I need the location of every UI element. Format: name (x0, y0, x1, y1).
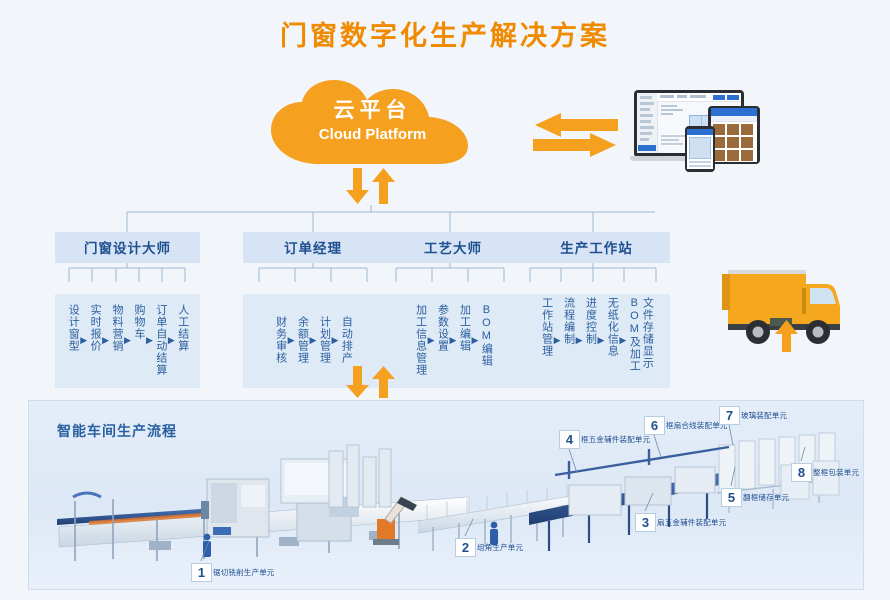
module-card-production-workstation[interactable]: 生产工作站 文件存储显示BOM及加工 ▶ 无纸化信息 ▶ 进度控制 ▶ 流程编制… (523, 232, 670, 357)
flow-arrow-icon: ▶ (102, 335, 109, 346)
module-item[interactable]: 购物车 (132, 304, 145, 376)
module-item[interactable]: 参数设置 (436, 304, 449, 376)
phone-device (685, 126, 715, 172)
unit-badge-6[interactable]: 6 (644, 416, 665, 435)
unit-badge-1[interactable]: 1 (191, 563, 212, 582)
unit-label-1: 锯切铣削生产单元 (213, 567, 275, 578)
unit-badge-3[interactable]: 3 (635, 513, 656, 532)
flow-arrow-icon: ▶ (428, 335, 435, 346)
unit-badge-5[interactable]: 5 (721, 488, 742, 507)
module-item[interactable]: 文件存储显示BOM及加工 (627, 297, 653, 383)
unit-label-3: 扇五金辅件装配单元 (657, 517, 726, 528)
flow-arrow-icon: ▶ (450, 335, 457, 346)
flow-arrow-icon: ▶ (168, 335, 175, 346)
flow-arrow-icon: ▶ (554, 335, 561, 346)
unit-label-8: 整框包装单元 (813, 467, 859, 478)
module-item[interactable]: 工作站管理 (540, 297, 553, 383)
flow-arrow-icon: ▶ (146, 335, 153, 346)
module-item[interactable]: 人工结算 (176, 304, 189, 376)
flow-arrow-icon: ▶ (288, 335, 295, 346)
module-item[interactable]: 设计窗型 (66, 304, 79, 376)
modules-workshop-arrows-icon (345, 366, 397, 398)
flow-arrow-icon: ▶ (80, 335, 87, 346)
module-item[interactable]: 进度控制 (584, 297, 597, 383)
module-item[interactable]: 物料营销 (110, 304, 123, 376)
cloud-icon (265, 78, 480, 170)
unit-label-7: 玻璃装配单元 (741, 410, 787, 421)
flow-arrow-icon: ▶ (576, 335, 583, 346)
module-item[interactable]: 余额管理 (296, 316, 309, 364)
cloud-platform-node: 云平台 Cloud Platform (265, 78, 480, 170)
module-item[interactable]: 实时报价 (88, 304, 101, 376)
flow-arrow-icon: ▶ (619, 335, 626, 346)
unit-badge-4[interactable]: 4 (559, 430, 580, 449)
laptop-toolbar (657, 93, 741, 102)
page-title: 门窗数字化生产解决方案 (0, 14, 890, 53)
module-card-design-master[interactable]: 门窗设计大师 人工结算 ▶ 订单自动结算 ▶ 购物车 ▶ 物料营销 ▶ 实时报价… (55, 232, 200, 357)
laptop-sidebar (637, 93, 658, 153)
module-items: 人工结算 ▶ 订单自动结算 ▶ 购物车 ▶ 物料营销 ▶ 实时报价 ▶ 设计窗型 (55, 294, 200, 388)
module-title: 工艺大师 (383, 232, 523, 263)
device-cluster (630, 90, 780, 170)
flow-arrow-icon: ▶ (598, 335, 605, 346)
flow-arrow-icon: ▶ (471, 335, 478, 346)
module-title: 订单经理 (243, 232, 383, 263)
devices-cloud-arrows-icon (533, 113, 618, 157)
module-item[interactable]: 计划管理 (317, 316, 330, 364)
module-items: 文件存储显示BOM及加工 ▶ 无纸化信息 ▶ 进度控制 ▶ 流程编制 ▶ 工作站… (523, 294, 670, 388)
unit-label-4: 框五金辅件装配单元 (581, 434, 650, 445)
delivery-truck-icon (714, 262, 874, 352)
module-title: 门窗设计大师 (55, 232, 200, 263)
unit-badge-8[interactable]: 8 (791, 463, 812, 482)
tablet-product-grid (711, 122, 757, 162)
module-card-order-manager[interactable]: 订单经理 自动排产 ▶ 计划管理 ▶ 余额管理 ▶ 财务审核 (243, 232, 383, 357)
module-item[interactable]: 订单自动结算 (154, 304, 167, 376)
flow-arrow-icon: ▶ (331, 335, 338, 346)
flow-arrow-icon: ▶ (310, 335, 317, 346)
cloud-modules-arrows-icon (345, 168, 397, 204)
flow-arrow-icon: ▶ (124, 335, 131, 346)
module-title: 生产工作站 (523, 232, 670, 263)
module-items: BOM编辑 ▶ 加工编辑 ▶ 参数设置 ▶ 加工信息管理 (383, 294, 523, 388)
unit-badge-7[interactable]: 7 (719, 406, 740, 425)
tablet-device (708, 106, 760, 164)
module-item[interactable]: 自动排产 (339, 316, 352, 364)
module-item[interactable]: 流程编制 (562, 297, 575, 383)
module-item[interactable]: 加工编辑 (457, 304, 470, 376)
solution-diagram: 门窗数字化生产解决方案 云平台 Cloud Platform (0, 0, 890, 600)
smart-workshop-panel: 智能车间生产流程 (28, 400, 864, 590)
module-item[interactable]: 无纸化信息 (605, 297, 618, 383)
module-item[interactable]: 加工信息管理 (414, 304, 427, 376)
laptop-text-lines (661, 105, 685, 117)
module-item[interactable]: BOM编辑 (479, 304, 492, 376)
module-card-process-master[interactable]: 工艺大师 BOM编辑 ▶ 加工编辑 ▶ 参数设置 ▶ 加工信息管理 (383, 232, 523, 357)
unit-label-2: 组角生产单元 (477, 542, 523, 553)
unit-badge-2[interactable]: 2 (455, 538, 476, 557)
unit-label-5: 翻框储存单元 (743, 492, 789, 503)
module-item[interactable]: 财务审核 (274, 316, 287, 364)
